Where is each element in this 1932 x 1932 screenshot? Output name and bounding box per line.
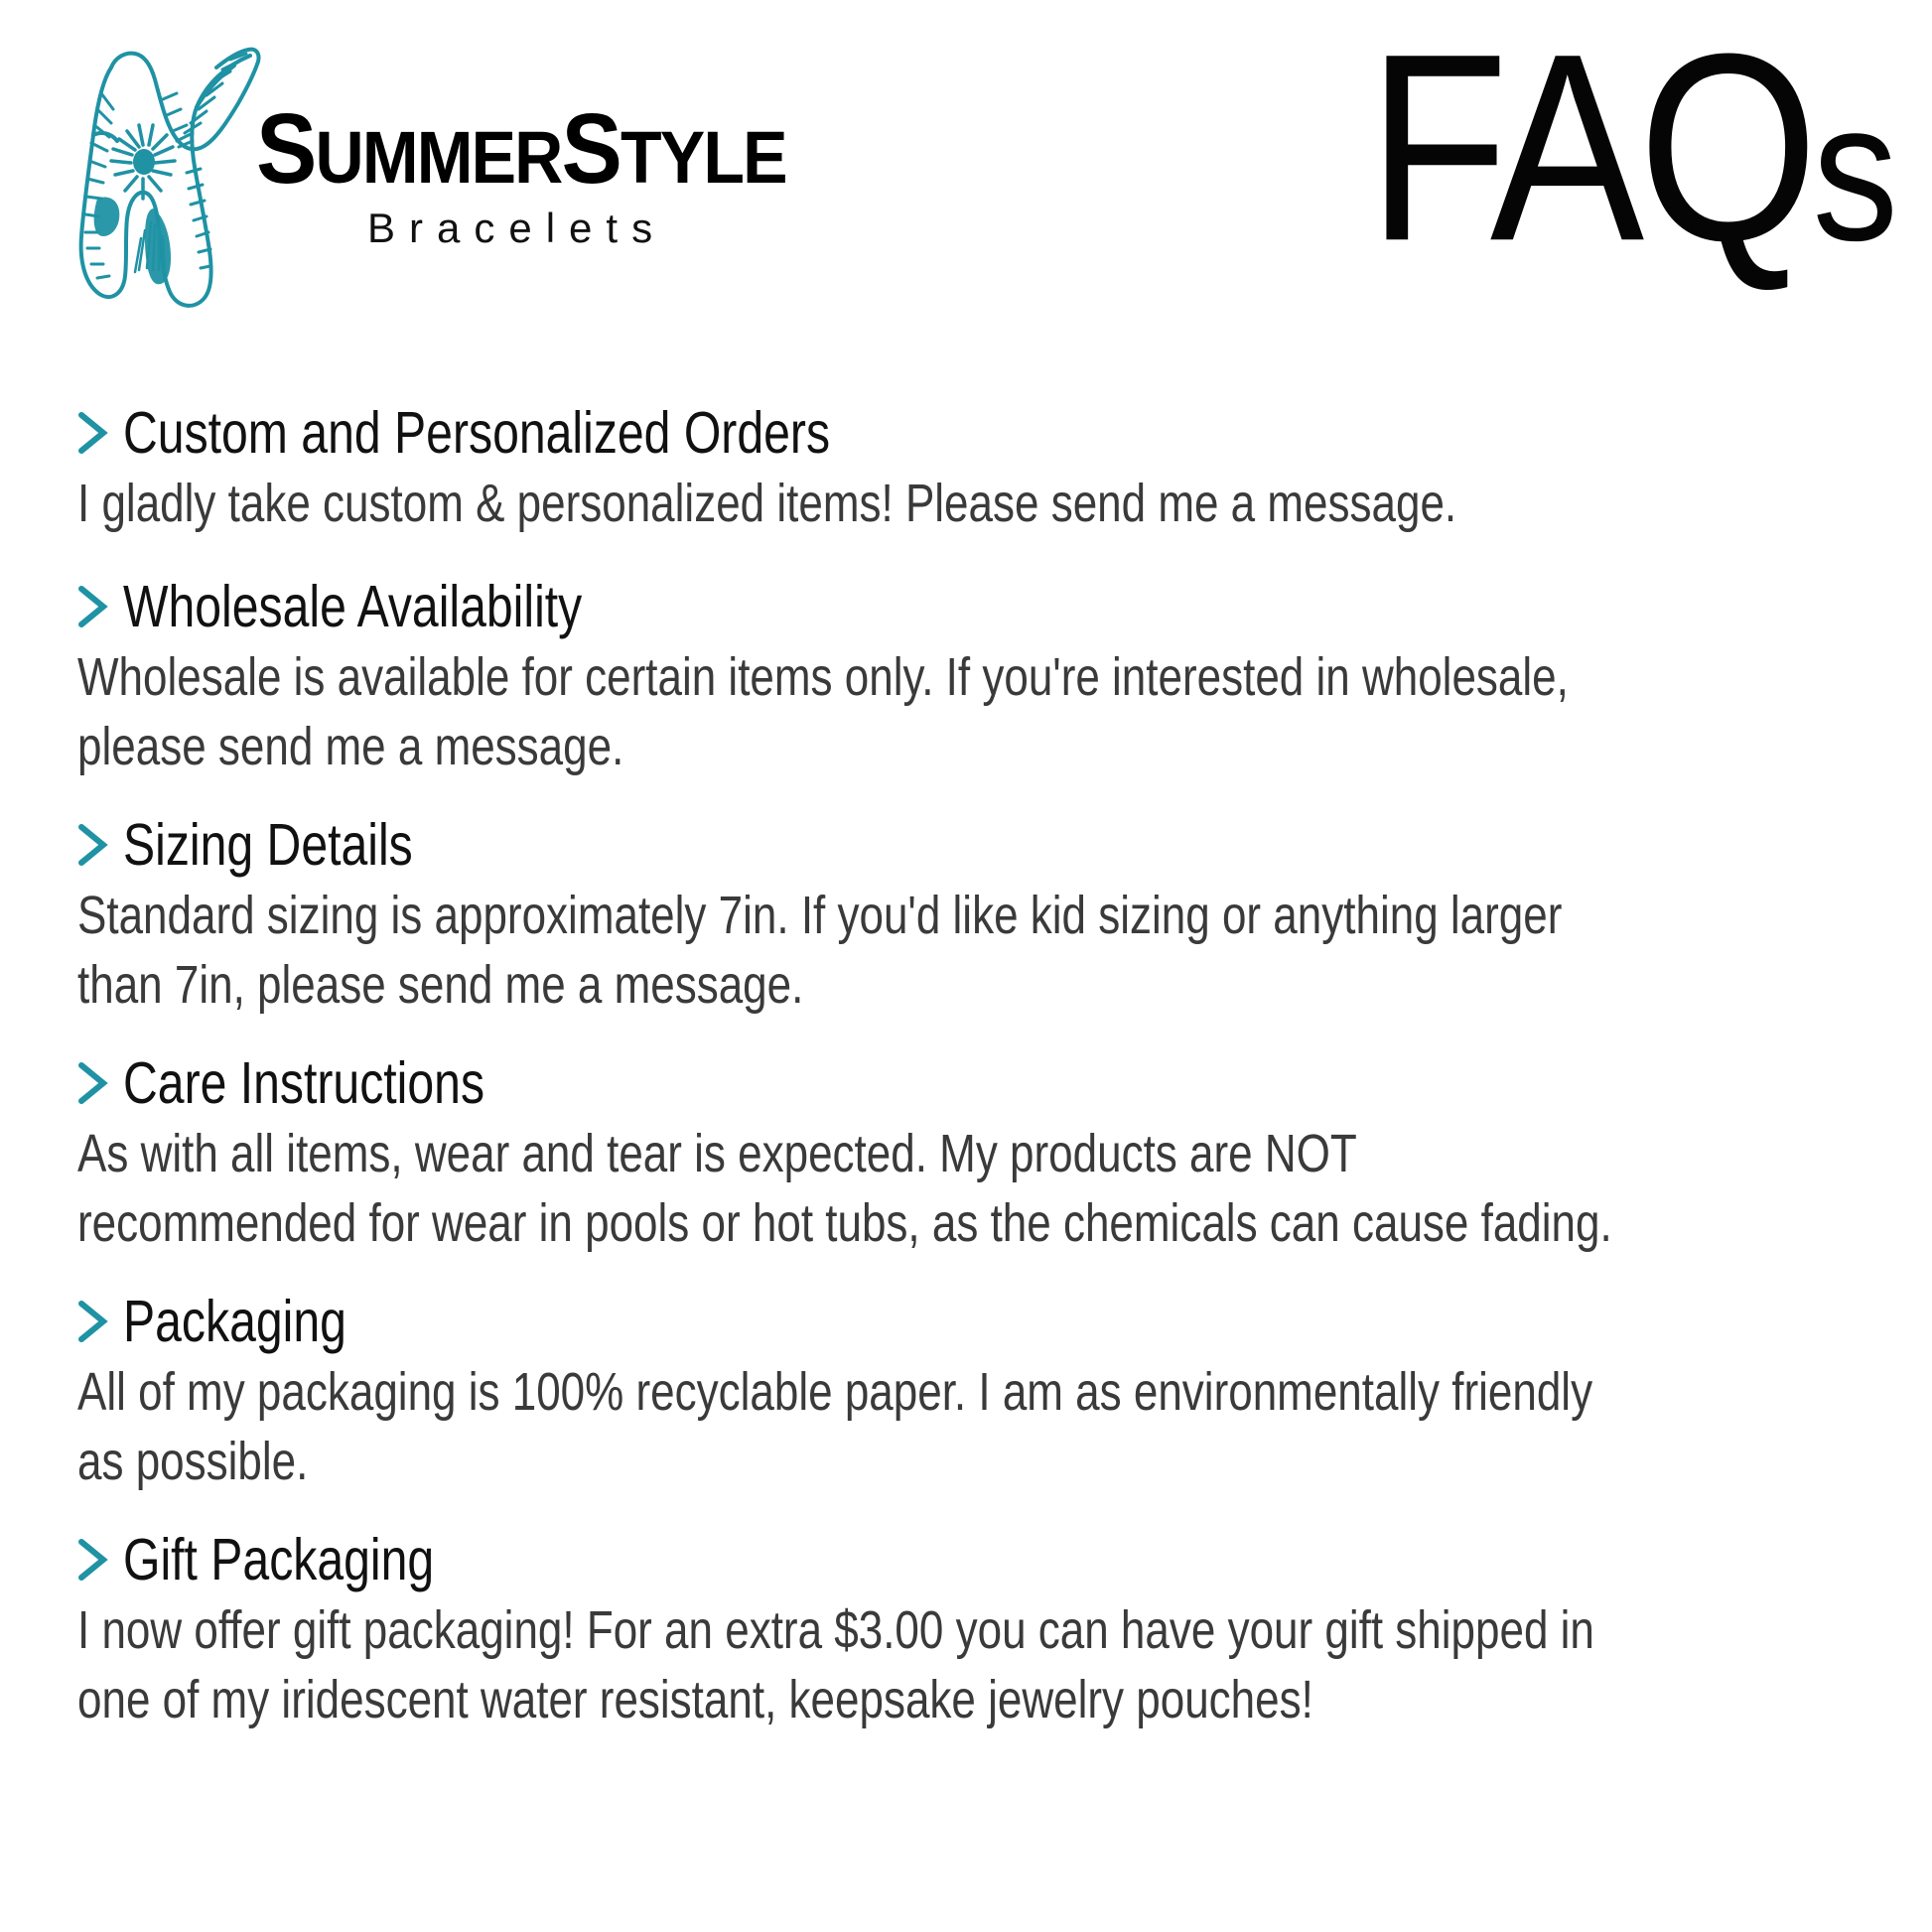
- page-title-upper: FAQ: [1367, 0, 1812, 296]
- wordmark-summer-rest: UMMER: [316, 116, 562, 199]
- brand-text: SUMMERSTYLE Bracelets: [256, 103, 832, 252]
- brand-wordmark: SUMMERSTYLE: [256, 103, 786, 195]
- faq-body: I now offer gift packaging! For an extra…: [77, 1595, 1615, 1734]
- faq-page: SUMMERSTYLE Bracelets FAQs Custom and Pe…: [0, 0, 1932, 1932]
- faq-item: Sizing Details Standard sizing is approx…: [77, 817, 1864, 1010]
- faq-body: Wholesale is available for certain items…: [77, 642, 1615, 781]
- chevron-right-icon: [77, 823, 109, 867]
- faq-item: Gift Packaging I now offer gift packagin…: [77, 1532, 1864, 1725]
- chevron-right-icon: [77, 1538, 109, 1582]
- chevron-right-icon: [77, 1061, 109, 1105]
- faq-heading-label: Gift Packaging: [123, 1530, 434, 1588]
- wordmark-summer-cap: S: [256, 93, 316, 205]
- faq-heading-label: Sizing Details: [123, 815, 413, 874]
- chevron-right-icon: [77, 585, 109, 628]
- faq-item: Packaging All of my packaging is 100% re…: [77, 1294, 1864, 1486]
- wordmark-style-cap: S: [561, 93, 621, 205]
- faq-item: Custom and Personalized Orders I gladly …: [77, 405, 1864, 533]
- faq-body: All of my packaging is 100% recyclable p…: [77, 1357, 1615, 1496]
- brand-logo: SUMMERSTYLE Bracelets: [68, 24, 832, 312]
- brand-subtitle: Bracelets: [367, 205, 666, 252]
- faq-body: As with all items, wear and tear is expe…: [77, 1119, 1615, 1258]
- chevron-right-icon: [77, 411, 109, 455]
- page-header: SUMMERSTYLE Bracelets FAQs: [0, 0, 1932, 328]
- faq-heading: Custom and Personalized Orders: [77, 405, 1864, 461]
- faq-heading-label: Packaging: [123, 1292, 346, 1350]
- chevron-right-icon: [77, 1300, 109, 1343]
- faq-heading: Wholesale Availability: [77, 579, 1864, 634]
- faq-body: I gladly take custom & personalized item…: [77, 469, 1615, 538]
- starfish-icon: [68, 24, 262, 312]
- faq-item: Wholesale Availability Wholesale is avai…: [77, 579, 1864, 771]
- faq-heading: Packaging: [77, 1294, 1864, 1349]
- page-title-lower: s: [1812, 61, 1892, 282]
- faq-heading: Gift Packaging: [77, 1532, 1864, 1587]
- faq-heading-label: Wholesale Availability: [123, 577, 582, 635]
- faq-body: Standard sizing is approximately 7in. If…: [77, 881, 1615, 1020]
- wordmark-style-rest: TYLE: [621, 116, 786, 199]
- faq-heading: Care Instructions: [77, 1055, 1864, 1111]
- faq-heading: Sizing Details: [77, 817, 1864, 873]
- faq-heading-label: Care Instructions: [123, 1053, 484, 1112]
- faq-item: Care Instructions As with all items, wea…: [77, 1055, 1864, 1248]
- faq-list: Custom and Personalized Orders I gladly …: [77, 405, 1864, 1725]
- faq-heading-label: Custom and Personalized Orders: [123, 403, 830, 462]
- page-title: FAQs: [1367, 34, 1892, 260]
